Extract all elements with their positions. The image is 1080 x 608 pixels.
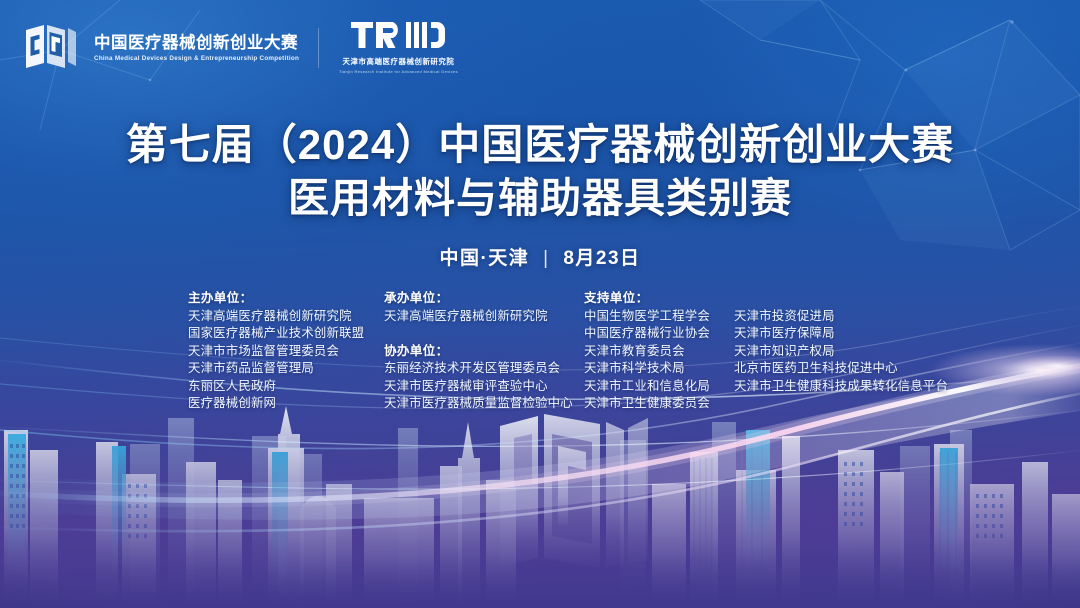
org-item: 天津市药品监督管理局 (188, 360, 370, 378)
event-date: 8月23日 (563, 248, 640, 269)
organizer-column-3: 支持单位： 中国生物医学工程学会 中国医疗器械行业协会 天津市教育委员会 天津市… (584, 290, 720, 413)
poster-title-line2: 医用材料与辅助器具类别赛 (0, 172, 1080, 225)
org-item: 天津市医疗器械质量监督检验中心 (384, 395, 570, 413)
competition-title-en: China Medical Devices Design & Entrepren… (94, 55, 302, 62)
organizer-column-2: 承办单位： 天津高端医疗器械创新研究院 协办单位： 东丽经济技术开发区管理委员会… (384, 290, 570, 413)
org-heading: 承办单位： (384, 290, 570, 308)
header-logos: 中国医疗器械创新创业大赛 China Medical Devices Desig… (24, 22, 458, 74)
org-item: 天津高端医疗器械创新研究院 (188, 308, 370, 326)
org-heading: 协办单位： (384, 343, 570, 361)
organizer-column-1: 主办单位： 天津高端医疗器械创新研究院 国家医疗器械产业技术创新联盟 天津市市场… (188, 290, 370, 413)
org-item: 天津市市场监督管理委员会 (188, 343, 370, 361)
title-block: 第七届（2024）中国医疗器械创新创业大赛 医用材料与辅助器具类别赛 中国·天津… (0, 118, 1080, 270)
competition-logo-text: 中国医疗器械创新创业大赛 China Medical Devices Desig… (94, 34, 298, 62)
org-item: 天津市科学技术局 (584, 360, 720, 378)
event-location: 中国·天津 (439, 248, 529, 269)
org-item: 天津市医疗器械审评查验中心 (384, 378, 570, 396)
institute-logo: 天津市高端医疗器械创新研究院 Tianjin Research Institut… (339, 22, 458, 74)
org-item: 国家医疗器械产业技术创新联盟 (188, 325, 370, 343)
org-item: 天津市知识产权局 (734, 343, 944, 361)
org-item: 天津市投资促进局 (734, 308, 944, 326)
org-item: 东丽区人民政府 (188, 378, 370, 396)
city-skyline-illustration (0, 388, 1080, 608)
competition-logo-icon (24, 23, 78, 74)
org-item: 天津市工业和信息化局 (584, 378, 720, 396)
org-item: 天津市医疗保障局 (734, 325, 944, 343)
event-poster: 中国医疗器械创新创业大赛 China Medical Devices Desig… (0, 0, 1080, 608)
org-item: 医疗器械创新网 (188, 395, 370, 413)
subtitle-separator: | (543, 248, 549, 270)
institute-name-en: Tianjin Research Institute for Advanced … (339, 69, 458, 74)
org-item: 天津市卫生健康委员会 (584, 395, 720, 413)
org-heading: 主办单位： (188, 290, 370, 308)
skyline-logo-monument (500, 414, 648, 568)
org-item: 北京市医药卫生科技促进中心 (734, 360, 944, 378)
competition-title-cn: 中国医疗器械创新创业大赛 (94, 34, 298, 52)
org-item: 中国生物医学工程学会 (584, 308, 720, 326)
poster-title-line1: 第七届（2024）中国医疗器械创新创业大赛 (0, 118, 1080, 172)
institute-name-cn: 天津市高端医疗器械创新研究院 (339, 56, 458, 67)
organizations-block: 主办单位： 天津高端医疗器械创新研究院 国家医疗器械产业技术创新联盟 天津市市场… (188, 290, 944, 413)
triid-wordmark-icon (351, 22, 445, 48)
logo-divider (318, 28, 319, 68)
org-item: 天津市教育委员会 (584, 343, 720, 361)
organizer-column-4: 天津市投资促进局 天津市医疗保障局 天津市知识产权局 北京市医药卫生科技促进中心… (734, 290, 944, 395)
org-item: 东丽经济技术开发区管理委员会 (384, 360, 570, 378)
org-item: 中国医疗器械行业协会 (584, 325, 720, 343)
org-spacer (384, 325, 570, 343)
org-item: 天津市卫生健康科技成果转化信息平台 (734, 378, 944, 396)
org-heading: 支持单位： (584, 290, 720, 308)
poster-subtitle: 中国·天津 | 8月23日 (0, 243, 1080, 270)
org-item: 天津高端医疗器械创新研究院 (384, 308, 570, 326)
